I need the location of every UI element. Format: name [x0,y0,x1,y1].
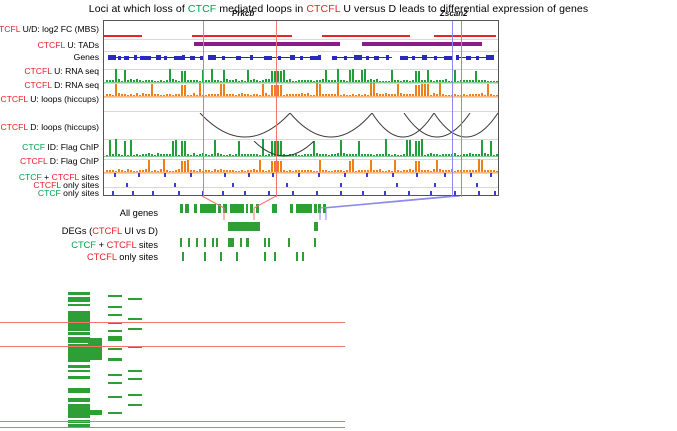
site-tick-ctcf [268,191,270,195]
flagchip-d-peak [415,161,417,172]
site-tick-both [164,173,166,177]
gene-intron-line [208,57,318,58]
vertical-both [108,396,122,398]
label-segment: CTCFL [38,40,65,50]
rnaseq-d-peak [184,85,186,96]
flagchip-d-peak [271,161,273,172]
label-segment: + [96,240,107,250]
track-label-chip_d: CTCFL D: Flag ChIP [20,156,99,166]
vertical-deg [88,338,102,360]
vertical-both [108,336,122,341]
summary-label-degs: DEGs (CTCFL UI vs D) [62,226,158,236]
site-tick-both [318,173,320,177]
rnaseq-u-peak [427,70,429,82]
vertical-ctcfl [128,318,142,320]
rnaseq-d-peak-baseline [104,96,498,97]
label-segment: CTCFL [306,3,340,15]
track-separator [104,51,498,52]
label-segment: U/D: log2 FC (MBS) [20,24,99,34]
vertical-ctcfl [128,370,142,372]
log2fc-segment [192,35,292,37]
deg-block [314,222,318,231]
gene-name-label: Prkcb [232,9,254,18]
vertical-both [108,374,122,376]
site-tick-ctcfl [476,183,478,187]
label-segment: D: loops (hiccups) [28,122,99,132]
site-tick-ctcf [178,191,180,195]
label-segment: CTCFL [92,226,122,236]
label-segment: CTCF [188,3,216,15]
flagchip-d-peak [394,160,396,172]
rnaseq-d-peak [223,84,225,96]
ctcfl-site-mark [264,252,266,261]
both-site-mark [228,238,234,247]
site-tick-ctcfl [232,183,234,187]
rnaseq-d-peak [280,85,282,96]
rnaseq-d-peak [370,83,372,96]
vertical-all-genes [68,398,90,402]
site-tick-ctcf [454,191,456,195]
rnaseq-d-peak [262,84,264,96]
hic-guide-line [0,322,345,323]
guide-line-red [276,21,277,197]
label-segment: U: loops (hiccups) [28,94,99,104]
rnaseq-d-peak [337,83,339,96]
flagchip-d-peak [148,160,150,172]
rnaseq-u-peak [277,71,279,82]
label-segment: CTCFL [0,24,20,34]
rnaseq-d-peak [487,84,489,96]
flagchip-d-peak [349,161,351,172]
summary-label-ctcfl_only: CTCFL only sites [87,252,158,262]
site-tick-both [272,173,274,177]
tad-bar [362,42,482,46]
site-tick-both [344,173,346,177]
both-site-mark [216,238,218,247]
track-label-loops_d: CTCFL D: loops (hiccups) [0,122,99,132]
site-tick-both [248,173,250,177]
label-segment: DEGs ( [62,226,92,236]
track-separator [104,69,498,70]
vertical-all-genes [68,304,90,306]
flagchip-d-peak [478,159,480,172]
rnaseq-d-peak [319,84,321,96]
site-tick-both [190,173,192,177]
rnaseq-u-peak [247,70,249,82]
vertical-all-genes [68,332,90,335]
vertical-both [108,412,122,414]
site-tick-both [138,173,140,177]
site-tick-ctcfl [340,183,342,187]
rnaseq-d-peak [181,85,183,96]
western-blot-panel [390,210,677,410]
rnaseq-u-peak [415,71,417,82]
rnaseq-u-peak [283,70,285,82]
rnaseq-u-peak [181,71,183,82]
track-label-rna_u: CTCFL U: RNA seq [24,66,99,76]
flagchip-d-peak [436,160,438,172]
both-site-mark [264,238,266,247]
label-segment: CTCFL [107,240,137,250]
both-site-mark [314,238,316,247]
rnaseq-u-peak [325,70,327,82]
vertical-both [108,330,122,332]
rnaseq-d-peak [151,84,153,96]
both-site-mark [212,238,214,247]
vertical-ctcfl [128,378,142,380]
site-tick-ctcf [132,191,134,195]
vertical-all-genes [68,292,90,295]
ctcfl-site-mark [220,252,222,261]
track-separator [104,111,498,112]
track-separator [104,39,498,40]
site-tick-both [366,173,368,177]
site-tick-ctcfl [126,183,128,187]
loop-arc-track [104,141,498,157]
flagchip-d-peak [277,161,279,172]
both-site-mark [240,238,242,247]
site-tick-ctcfl [396,183,398,187]
rnaseq-d-peak [421,84,423,96]
site-tick-both [490,173,492,177]
flagchip-d-peak [370,160,372,172]
track-label-loops_u: CTCFL U: loops (hiccups) [0,94,99,104]
both-site-mark [246,238,249,247]
vertical-all-genes [68,376,90,379]
vertical-all-genes [68,297,90,302]
flagchip-d-peak [418,161,420,172]
vertical-both [108,348,122,350]
vertical-ctcfl [128,328,142,330]
rnaseq-u-peak [391,70,393,82]
rnaseq-u-peak [337,69,339,82]
track-label-rna_d: CTCFL D: RNA seq [24,80,99,90]
rnaseq-u-peak [271,71,273,82]
rnaseq-d-peak [424,84,426,96]
rnaseq-d-peak [415,85,417,96]
rnaseq-d-peak [220,84,222,96]
zoom-connector-lines [0,196,520,220]
both-site-mark [196,238,198,247]
site-tick-both [416,173,418,177]
rnaseq-u-peak [418,71,420,82]
ctcfl-site-mark [302,252,304,261]
rnaseq-u-peak [349,70,351,82]
site-tick-ctcfl [434,183,436,187]
vertical-deg [88,410,102,415]
rnaseq-d-peak [373,83,375,96]
rnaseq-u-peak [352,69,354,82]
label-segment: U: RNA seq [52,66,99,76]
track-label-genes: Genes [74,52,99,62]
rnaseq-u-peak [364,69,366,82]
site-tick-ctcf [152,191,154,195]
label-segment: CTCF [71,240,96,250]
rnaseq-u-peak [124,70,126,82]
label-segment: D: Flag ChIP [47,156,99,166]
track-label-chip_id: CTCF ID: Flag ChIP [22,142,99,152]
site-tick-both [298,173,300,177]
track-separator [104,187,498,188]
vertical-all-genes [68,388,90,393]
both-site-mark [288,238,290,247]
ctcfl-site-mark [182,252,184,261]
track-label-tads: CTCFL U: TADs [38,40,99,50]
log2fc-segment [104,35,142,37]
site-tick-ctcfl [174,183,176,187]
hic-contact-map[interactable] [0,270,360,431]
vertical-all-genes [68,337,90,343]
label-segment: ID: Flag ChIP [45,142,99,152]
flagchip-d-peak [259,160,261,172]
site-tick-both [392,173,394,177]
both-site-mark [204,238,206,247]
vertical-both [108,314,122,316]
log2fc-segment [322,35,410,37]
site-tick-ctcf [292,191,294,195]
rnaseq-d-peak [316,83,318,96]
rnaseq-d-peak [277,85,279,96]
rnaseq-u-peak [184,71,186,82]
label-segment: CTCF [22,142,45,152]
rnaseq-u-peak [223,70,225,82]
rnaseq-u-peak [454,70,456,82]
label-segment: CTCFL [87,252,117,262]
label-segment: only sites [117,252,158,262]
site-tick-ctcf [222,191,224,195]
gene-name-label: Zscan2 [440,9,468,18]
label-segment: mediated loops in [216,3,306,15]
label-segment: U: TADs [65,40,99,50]
site-tick-ctcf [478,191,480,195]
flagchip-d-peak [181,161,183,172]
rnaseq-u-peak [211,69,213,82]
hic-guide-line [0,427,345,428]
ctcfl-site-mark [204,252,206,261]
rnaseq-d-peak [271,85,273,96]
label-segment: CTCFL [0,122,27,132]
vertical-both [108,358,122,361]
site-tick-ctcf [340,191,342,195]
flagchip-d-peak [280,161,282,172]
browser-track-label-column: CTCFL U/D: log2 FC (MBS)CTCFL U: TADsGen… [0,20,101,196]
flagchip-d-peak [187,160,189,172]
summary-label-both_sites: CTCF + CTCFL sites [71,240,158,250]
deg-block [228,222,260,231]
site-tick-ctcfl [286,183,288,187]
rnaseq-d-peak [427,84,429,96]
vertical-both [108,382,122,384]
site-tick-ctcf [112,191,114,195]
flagchip-d-peak [481,160,483,172]
figure-title: Loci at which loss of CTCF mediated loop… [0,3,677,15]
flagchip-d-peak [319,160,321,172]
label-segment: CTCFL [0,94,27,104]
site-tick-ctcf [408,191,410,195]
vertical-ctcfl [128,298,142,300]
label-segment: sites [136,240,158,250]
both-site-mark [188,238,190,247]
hic-guide-line [0,346,345,347]
rnaseq-u-peak [169,69,171,82]
rnaseq-d-peak [115,84,117,96]
gene-intron-line [400,57,450,58]
flagchip-d-peak [163,159,165,172]
rnaseq-d-peak [397,84,399,96]
guide-line-red [203,21,204,197]
rnaseq-u-peak [280,71,282,82]
vertical-both [108,295,122,297]
site-tick-ctcf [430,191,432,195]
rnaseq-u-peak [361,70,363,82]
label-segment: D: RNA seq [52,80,99,90]
ctcfl-site-mark [274,252,276,261]
site-tick-ctcf [494,191,496,195]
guide-line-blue [461,21,462,197]
site-tick-both [114,173,116,177]
loop-arc-track [104,113,498,139]
log2fc-segment [434,35,496,37]
site-tick-ctcf [316,191,318,195]
vertical-both [108,306,122,308]
rnaseq-u-peak [115,69,117,82]
label-segment: CTCFL [20,156,47,166]
site-tick-both [470,173,472,177]
both-site-mark [268,238,270,247]
gene-model [318,55,321,60]
label-segment: CTCFL [24,80,51,90]
gene-intron-line [108,57,204,58]
site-tick-ctcf [384,191,386,195]
genome-browser-panel[interactable]: PrkcbZscan2 [103,20,499,196]
label-segment: UI vs D) [122,226,158,236]
site-tick-ctcf [362,191,364,195]
site-tick-both [444,173,446,177]
ctcfl-site-mark [236,252,238,261]
site-tick-ctcf [244,191,246,195]
rnaseq-u-peak [475,71,477,82]
site-tick-both [224,173,226,177]
rnaseq-d-peak [439,83,441,96]
vertical-ctcfl [128,404,142,406]
guide-line-blue [452,21,453,197]
gene-intron-line [332,57,392,58]
hic-guide-line [0,421,345,422]
tad-bar [194,42,340,46]
label-segment: Genes [74,52,99,62]
rnaseq-d-peak [199,83,201,96]
flagchip-d-peak [184,161,186,172]
label-segment: CTCFL [24,66,51,76]
vertical-all-genes [68,370,90,372]
track-separator [104,97,498,98]
track-separator [104,139,498,140]
vertical-ctcfl [128,394,142,396]
label-segment: Loci at which loss of [89,3,188,15]
flagchip-d-peak [352,159,354,172]
vertical-all-genes [68,404,90,418]
both-site-mark [180,238,182,247]
vertical-all-genes [68,365,90,368]
ctcfl-site-mark [296,252,298,261]
rnaseq-d-peak [418,85,420,96]
track-label-fc: CTCFL U/D: log2 FC (MBS) [0,24,99,34]
vertical-all-genes [68,311,90,331]
